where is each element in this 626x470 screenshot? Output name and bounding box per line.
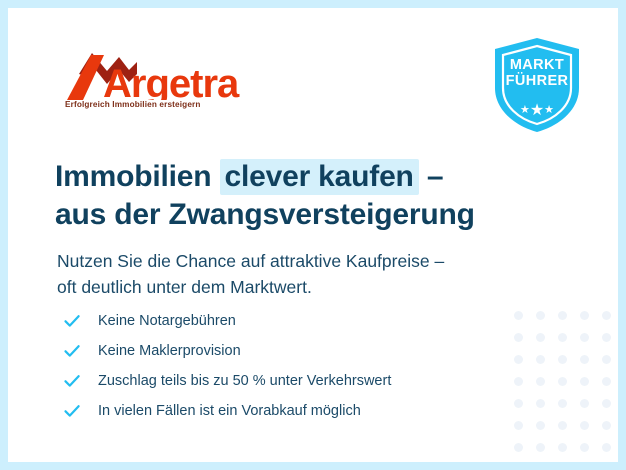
argetra-logo: Argetra Erfolgreich Immobilien ersteiger… [63,48,253,114]
list-item: Keine Maklerprovision [63,336,543,366]
dot [514,443,523,452]
dot [602,311,611,320]
subheading: Nutzen Sie die Chance auf attraktive Kau… [57,248,577,301]
dot [580,311,589,320]
benefit-label: Zuschlag teils bis zu 50 % unter Verkehr… [98,373,391,389]
argetra-logo-mark: Argetra [63,48,253,100]
headline-line2: aus der Zwangsversteigerung [55,198,475,231]
list-item: Keine Notargebühren [63,306,543,336]
headline-highlight: clever kaufen [220,159,419,195]
shield-icon [491,36,583,134]
check-icon [63,312,81,330]
dot [558,399,567,408]
headline-line1-pre: Immobilien [55,160,220,193]
dot [602,443,611,452]
subheading-line1: Nutzen Sie die Chance auf attraktive Kau… [57,251,444,271]
dot [558,311,567,320]
dot [580,443,589,452]
benefit-label: In vielen Fällen ist ein Vorabkauf mögli… [98,403,361,419]
market-leader-badge: MARKT FÜHRER ★★★ [491,36,583,134]
check-icon [63,402,81,420]
svg-text:Argetra: Argetra [103,62,240,100]
check-icon [63,342,81,360]
benefit-list: Keine Notargebühren Keine Maklerprovisio… [63,306,543,426]
headline: Immobilien clever kaufen – aus der Zwang… [55,158,575,234]
dot [602,399,611,408]
dot [558,443,567,452]
check-icon [63,372,81,390]
dot [580,333,589,342]
promo-banner: Argetra Erfolgreich Immobilien ersteiger… [0,0,626,470]
dot [558,377,567,386]
dot [580,377,589,386]
dot [558,355,567,364]
dot [580,355,589,364]
banner-canvas: Argetra Erfolgreich Immobilien ersteiger… [8,8,618,462]
dot [602,421,611,430]
benefit-label: Keine Notargebühren [98,313,236,329]
dot [580,421,589,430]
dot [536,443,545,452]
list-item: In vielen Fällen ist ein Vorabkauf mögli… [63,396,543,426]
logo-tagline: Erfolgreich Immobilien ersteigern [65,100,201,109]
dot [558,333,567,342]
dot [602,333,611,342]
benefit-label: Keine Maklerprovision [98,343,241,359]
list-item: Zuschlag teils bis zu 50 % unter Verkehr… [63,366,543,396]
dot [602,355,611,364]
dot [558,421,567,430]
subheading-line2: oft deutlich unter dem Marktwert. [57,277,312,297]
dot [580,399,589,408]
headline-line1-post: – [419,160,444,193]
dot [602,377,611,386]
